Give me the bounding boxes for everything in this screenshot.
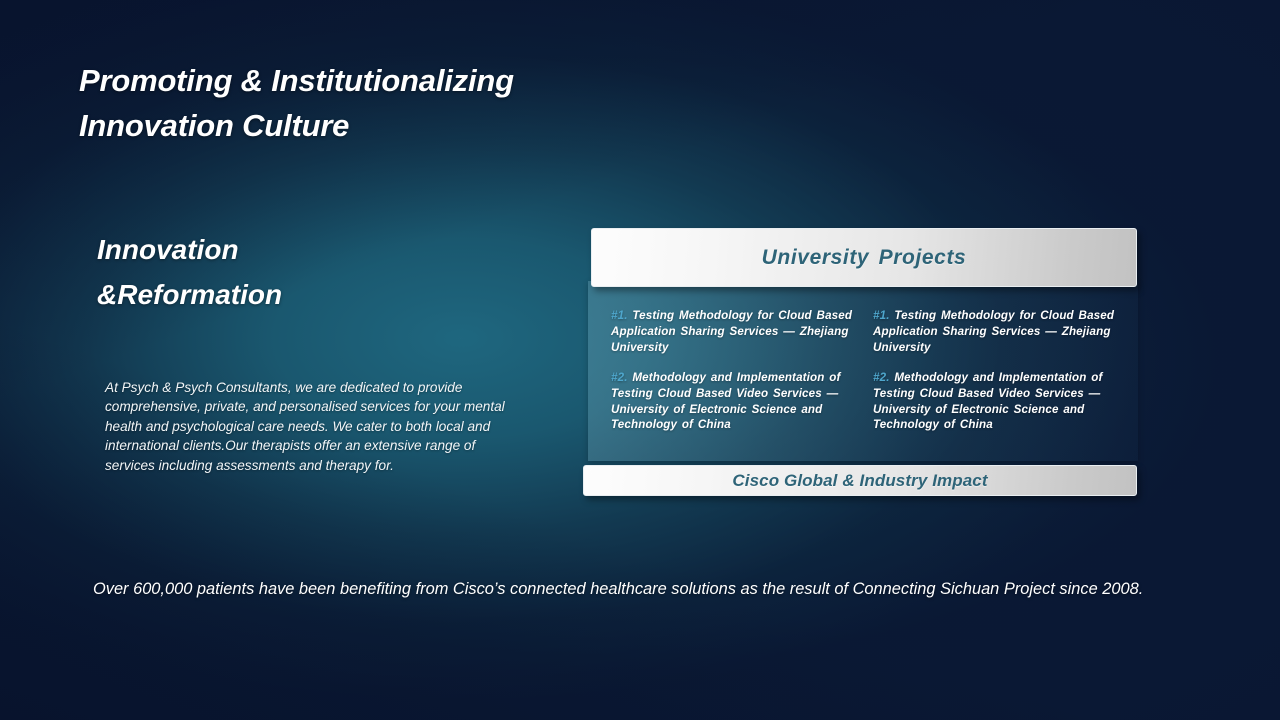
item-number: #2. [611,371,628,384]
item-text: Testing Methodology for Cloud Based Appl… [873,309,1114,354]
item-number: #2. [873,371,890,384]
body-paragraph: At Psych & Psych Consultants, we are ded… [105,378,509,475]
slide-title: Promoting & Institutionalizing Innovatio… [79,58,719,148]
panel-header-bar: University Projects [591,228,1137,287]
list-item: #1. Testing Methodology for Cloud Based … [611,308,856,356]
item-text: Testing Methodology for Cloud Based Appl… [611,309,852,354]
list-item: #1. Testing Methodology for Cloud Based … [873,308,1118,356]
item-text: Methodology and Implementation of Testin… [873,371,1103,432]
footer-note: Over 600,000 patients have been benefiti… [93,578,1213,601]
projects-column-left: #1. Testing Methodology for Cloud Based … [611,308,856,447]
section-subheading: Innovation &Reformation [97,227,527,317]
item-text: Methodology and Implementation of Testin… [611,371,841,432]
list-item: #2. Methodology and Implementation of Te… [873,370,1118,434]
slide-canvas: Promoting & Institutionalizing Innovatio… [0,0,1280,720]
panel-body: #1. Testing Methodology for Cloud Based … [588,281,1138,461]
university-projects-panel: #1. Testing Methodology for Cloud Based … [583,228,1140,498]
item-number: #1. [873,309,890,322]
panel-footer-bar: Cisco Global & Industry Impact [583,465,1137,496]
projects-column-right: #1. Testing Methodology for Cloud Based … [873,308,1118,447]
item-number: #1. [611,309,628,322]
list-item: #2. Methodology and Implementation of Te… [611,370,856,434]
